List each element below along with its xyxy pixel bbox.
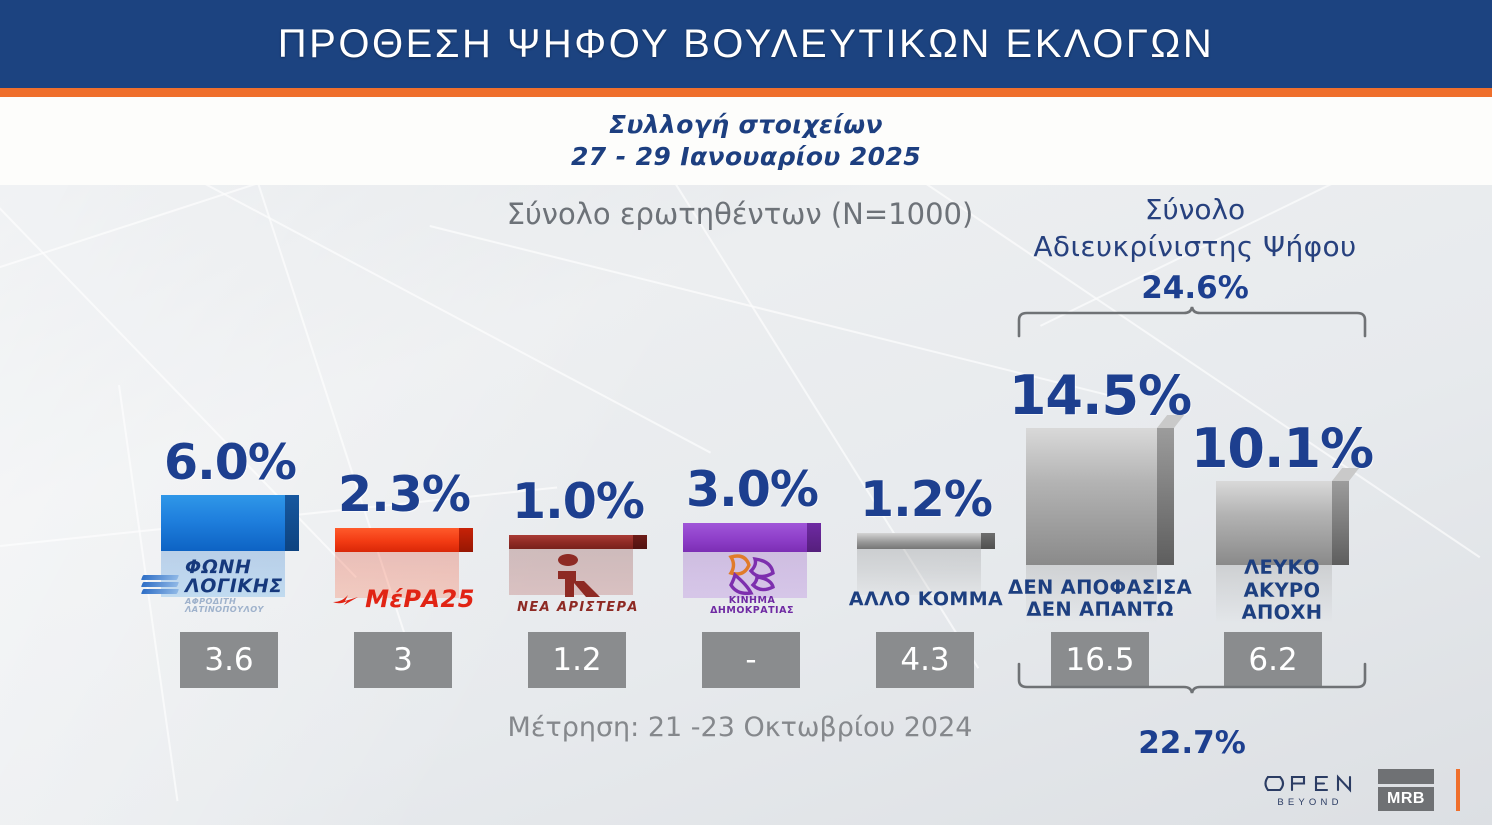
mrb-logo: MRB [1378,769,1434,811]
undecided-label-line-3: ΑΠΟΧΗ [1242,601,1323,624]
party-logo-nea-aristera: ΝΕΑ ΑΡΙΣΤΕΡΑ [490,560,666,615]
party-name-kinima-dimokratias: ΚΙΝΗΜΑ ΔΗΜΟΚΡΑΤΙΑΣ [710,596,794,617]
open-beyond-logo: BEYOND [1264,773,1356,808]
foni-logikis-mark-icon [142,573,178,597]
bar-face [509,535,633,549]
poll-slide: ΠΡΟΘΕΣΗ ΨΗΦΟΥ ΒΟΥΛΕΥΤΙΚΩΝ ΕΚΛΟΓΩΝ Συλλογ… [0,0,1492,825]
kinima-name-line-1: ΚΙΝΗΜΑ [729,595,776,606]
subtitle-line-2: 27 - 29 Ιανουαρίου 2025 [571,141,921,173]
brand-logos: BEYOND MRB [1264,769,1460,811]
party-percent-allo-komma: 1.2% [838,471,1014,528]
party-bar-foni-logikis [142,495,318,551]
bar-side [285,495,299,551]
open-beyond-subtitle: BEYOND [1277,797,1342,808]
party-percent-foni-logikis: 6.0% [142,434,318,491]
undecided-label-line-1: ΔΕΝ ΑΠΟΦΑΣΙΣΑ [1008,576,1192,599]
bar-face [1026,428,1157,565]
party-bar-allo-komma [838,533,1014,549]
bar-face [1216,481,1332,565]
undecided-bracket-top [1016,306,1368,338]
party-logo-allo-komma: ΑΛΛΟ ΚΟΜΜΑ [838,577,1014,611]
kinima-dimokratias-leaf-icon [721,551,783,595]
undecided-previous-total: 22.7% [1092,725,1292,761]
header-band: ΠΡΟΘΕΣΗ ΨΗΦΟΥ ΒΟΥΛΕΥΤΙΚΩΝ ΕΚΛΟΓΩΝ [0,0,1492,88]
party-logo-mera25: ΜέΡΑ25 [316,573,492,613]
mrb-wordmark: MRB [1378,787,1434,811]
previous-value-chip-kinima-dimokratias: - [702,632,800,688]
undecided-label-line-2: ΔΕΝ ΑΠΑΝΤΩ [1026,598,1173,621]
party-percent-nea-aristera: 1.0% [490,473,666,530]
party-bar-kinima-dimokratias [664,523,840,552]
bar-side [1157,428,1174,565]
open-wordmark-icon [1264,773,1356,794]
party-percent-kinima-dimokratias: 3.0% [664,461,840,518]
bar-side [807,523,821,552]
mera25-arrow-icon [333,590,359,608]
nea-aristera-figure-icon [546,553,610,599]
bar-side [1332,481,1349,565]
undecided-bar-lefko-akyro-apochi [1182,481,1382,565]
bar-face [857,533,981,549]
page-title: ΠΡΟΘΕΣΗ ΨΗΦΟΥ ΒΟΥΛΕΥΤΙΚΩΝ ΕΚΛΟΓΩΝ [278,22,1214,67]
bar-side [459,528,473,552]
subtitle-line-1: Συλλογή στοιχείων [609,109,883,141]
party-name-mera25: ΜέΡΑ25 [365,585,475,613]
party-name-allo-komma: ΑΛΛΟ ΚΟΜΜΑ [849,589,1003,611]
party-subname-foni-logikis: ΑΦΡΟΔΙΤΗ ΛΑΤΙΝΟΠΟΥΛΟΥ [185,597,318,613]
bar-face [161,495,285,551]
kinima-name-line-2: ΔΗΜΟΚΡΑΤΙΑΣ [710,605,794,616]
party-bar-mera25 [316,528,492,552]
subtitle-block: Συλλογή στοιχείων 27 - 29 Ιανουαρίου 202… [0,97,1492,185]
party-logo-foni-logikis: ΦΩΝΗ ΛΟΓΙΚΗΣ ΑΦΡΟΔΙΤΗ ΛΑΤΙΝΟΠΟΥΛΟΥ [142,573,318,613]
party-logo-kinima-dimokratias: ΚΙΝΗΜΑ ΔΗΜΟΚΡΑΤΙΑΣ [664,563,840,617]
undecided-bracket-bottom [1016,662,1368,694]
bar-side [633,535,647,549]
previous-measurement-footnote: Μέτρηση: 21 -23 Οκτωβρίου 2024 [430,712,1050,743]
undecided-label-den-apofasisa: ΔΕΝ ΑΠΟΦΑΣΙΣΑ ΔΕΝ ΑΠΑΝΤΩ [1000,573,1200,621]
brand-accent-rule [1456,769,1460,811]
undecided-label-line-1: ΛΕΥΚΟ [1244,556,1320,579]
previous-value-chip-foni-logikis: 3.6 [180,632,278,688]
bar-side [981,533,995,549]
undecided-bar-den-apofasisa [1000,428,1200,565]
bar-face [683,523,807,552]
undecided-label-lefko-akyro-apochi: ΛΕΥΚΟ ΑΚΥΡΟ ΑΠΟΧΗ [1182,568,1382,624]
previous-value-chip-nea-aristera: 1.2 [528,632,626,688]
party-percent-mera25: 2.3% [316,466,492,523]
bar-face [335,528,459,552]
previous-value-chip-mera25: 3 [354,632,452,688]
party-bar-nea-aristera [490,535,666,549]
previous-value-chip-allo-komma: 4.3 [876,632,974,688]
undecided-label-line-2: ΑΚΥΡΟ [1244,579,1321,602]
header-accent-rule [0,88,1492,97]
mrb-top-bar [1378,769,1434,784]
party-name-nea-aristera: ΝΕΑ ΑΡΙΣΤΕΡΑ [517,600,639,615]
party-name-foni-logikis: ΦΩΝΗ ΛΟΓΙΚΗΣ [185,558,318,596]
